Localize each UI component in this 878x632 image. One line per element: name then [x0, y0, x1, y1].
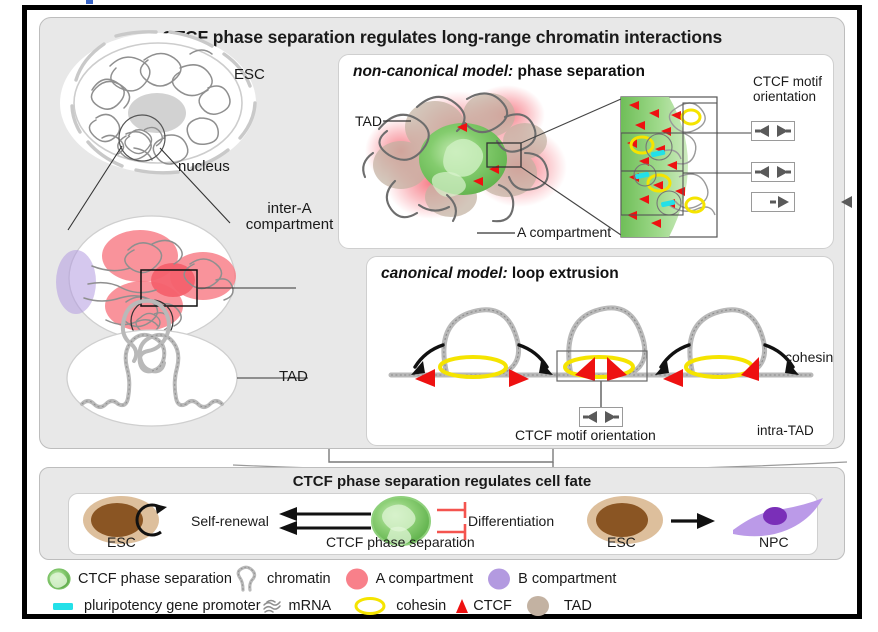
- panel-title-top: CTCF phase separation regulates long-ran…: [40, 27, 844, 48]
- heading-non-canonical: non-canonical model: phase separation: [353, 63, 645, 81]
- subpanel-non-canonical-model: non-canonical model: phase separation: [338, 54, 834, 249]
- extrusion-arrow-left-1: [415, 345, 443, 367]
- label-esc: ESC: [234, 66, 265, 83]
- differentiation-arrow: [671, 513, 715, 529]
- tad-illustration: [67, 330, 237, 426]
- motif-arrows-divergent: [752, 193, 794, 211]
- heading-non-canonical-italic: non-canonical model:: [353, 63, 513, 80]
- label-self-renewal: Self-renewal: [191, 513, 269, 529]
- label-intra-tad: intra-TAD: [757, 423, 814, 438]
- self-renewal-arrows-left: [291, 514, 371, 528]
- motif-arrows-convergent: [752, 122, 794, 140]
- top-blue-fragment: [86, 0, 93, 4]
- label-tad-left: TAD: [279, 368, 308, 385]
- motif-arrows-convergent: [580, 408, 622, 426]
- ctcf-triangle-2: [509, 369, 529, 387]
- label-ctcf-phase-separation: CTCF phase separation: [326, 534, 475, 550]
- motif-title-line1: CTCF motif: [753, 74, 822, 89]
- ctcf-triangle-3: [575, 357, 595, 381]
- red-triangle-icon: [454, 596, 470, 616]
- legend-item-b-compartment: B compartment: [487, 566, 616, 592]
- legend-item-cohesin: cohesin: [353, 593, 446, 619]
- legend-label-chromatin: chromatin: [267, 571, 331, 587]
- tad-blobs: [373, 93, 547, 217]
- label-ctcf-motif-orientation-top: CTCF motif orientation: [753, 75, 833, 104]
- purple-circle-icon: [487, 567, 511, 591]
- motif-box-convergent-1[interactable]: [751, 121, 795, 141]
- compartment-illustration: [56, 216, 236, 342]
- green-droplet-icon: [47, 568, 71, 590]
- legend-label-cohesin: cohesin: [396, 598, 446, 614]
- panel-title-bottom: CTCF phase separation regulates cell fat…: [40, 473, 844, 490]
- figure-outer-frame: CTCF phase separation regulates long-ran…: [22, 5, 862, 619]
- expansion-lines-2: [82, 335, 220, 390]
- condensate-band: [621, 97, 688, 237]
- legend-label-pluripotency-promoter: pluripotency gene promoter: [84, 598, 261, 614]
- ctcf-triangle-6: [741, 357, 759, 381]
- loop-extrusion-unit-2: [557, 308, 647, 407]
- legend-item-tad: TAD: [526, 593, 592, 619]
- inset-promoters: [635, 150, 676, 208]
- motif-box-convergent-2[interactable]: [751, 162, 795, 182]
- legend-label-ctcf: CTCF: [473, 598, 512, 614]
- cohesin-ring-3: [686, 357, 752, 377]
- loop-extrusion-unit-1: [411, 310, 553, 387]
- legend-row-1: CTCF phase separation chromatin: [39, 566, 616, 592]
- label-a-compartment: A compartment: [517, 224, 611, 240]
- ctcf-triangles-core: [457, 123, 499, 186]
- legend-label-b-compartment: B compartment: [518, 571, 616, 587]
- zoom-box-source: [487, 143, 521, 167]
- npc-cell: [733, 498, 823, 536]
- motif-arrows-convergent: [752, 163, 794, 181]
- ctcf-triangle-5: [663, 369, 683, 387]
- legend-label-tad: TAD: [564, 598, 592, 614]
- inset-cohesin-rings: [631, 110, 704, 212]
- chromatin-loop-icon: [234, 567, 260, 591]
- figure-legend: CTCF phase separation chromatin: [39, 566, 845, 618]
- mrna-squiggle-icon: [261, 597, 283, 615]
- legend-item-pluripotency-promoter: pluripotency gene promoter: [51, 593, 261, 619]
- figure-root: CTCF phase separation regulates long-ran…: [0, 0, 878, 632]
- extrusion-arrow-left-3: [661, 345, 689, 367]
- legend-label-ctcf-phase-separation: CTCF phase separation: [78, 571, 232, 587]
- cyan-bar-icon: [51, 599, 75, 613]
- extrusion-arrow-right-1: [519, 345, 547, 367]
- label-inter-a-compartment: inter-A compartment: [242, 201, 337, 233]
- subpanel-canonical-model: canonical model: loop extrusion: [366, 256, 834, 446]
- legend-row-2: pluripotency gene promoter: [39, 593, 592, 619]
- heading-non-canonical-rest: phase separation: [513, 63, 645, 80]
- legend-item-a-compartment: A compartment: [345, 566, 474, 592]
- label-ctcf-motif-orientation-canonical: CTCF motif orientation: [515, 427, 656, 443]
- cohesin-ring-2: [565, 357, 633, 377]
- heading-canonical: canonical model: loop extrusion: [381, 265, 619, 283]
- panel-cell-fate: CTCF phase separation regulates cell fat…: [39, 467, 845, 560]
- motif-box-canonical[interactable]: [579, 407, 623, 427]
- ctcf-condensate-core: [419, 123, 507, 197]
- label-inter-a-line1: inter-A: [267, 200, 311, 217]
- label-differentiation: Differentiation: [468, 513, 554, 529]
- ctcf-triangle-4: [607, 357, 627, 381]
- label-cohesin-canonical: cohesin: [785, 349, 833, 365]
- ctcf-triangle-1: [415, 369, 435, 387]
- legend-label-mrna: mRNA: [289, 598, 332, 614]
- label-esc-left: ESC: [107, 534, 136, 550]
- tan-circle-icon: [526, 594, 550, 618]
- legend-item-ctcf: CTCF: [454, 593, 512, 619]
- legend-item-mrna: mRNA: [261, 593, 332, 619]
- chromatin-fibers: [363, 93, 548, 221]
- label-tad-noncanonical: TAD: [355, 113, 382, 129]
- motif-box-divergent[interactable]: [751, 192, 795, 212]
- cohesin-ring-1: [440, 357, 506, 377]
- heading-canonical-rest: loop extrusion: [508, 265, 619, 282]
- red-circle-icon: [345, 567, 369, 591]
- loop-extrusion-unit-3: [655, 310, 799, 387]
- legend-item-chromatin: chromatin: [234, 566, 331, 592]
- legend-item-ctcf-phase-separation: CTCF phase separation: [47, 566, 232, 592]
- esc-cell-illustration: [60, 32, 256, 173]
- panel-long-range-chromatin: CTCF phase separation regulates long-ran…: [39, 17, 845, 449]
- label-esc-right: ESC: [607, 534, 636, 550]
- a-compartment-glows: [365, 85, 567, 219]
- yellow-ring-icon: [353, 596, 387, 616]
- motif-highlight-box: [557, 351, 647, 381]
- label-inter-a-line2: compartment: [246, 216, 334, 233]
- tad-chromatin-squiggle: [40, 18, 340, 450]
- self-renewal-arrow: [137, 504, 167, 535]
- label-nucleus: nucleus: [178, 158, 230, 175]
- ctcf-triangles-inset: [627, 101, 685, 228]
- inset-gene-loci: [634, 134, 681, 215]
- heading-canonical-italic: canonical model:: [381, 265, 508, 282]
- condensate-inset: [621, 97, 751, 237]
- label-npc: NPC: [759, 534, 789, 550]
- legend-label-a-compartment: A compartment: [376, 571, 474, 587]
- zoom-expansion-lines: [521, 99, 621, 235]
- subpanel-cell-fate-diagram: ESC Self-renewal CTCF phase separation D…: [68, 493, 818, 555]
- motif-title-line2: orientation: [753, 89, 816, 104]
